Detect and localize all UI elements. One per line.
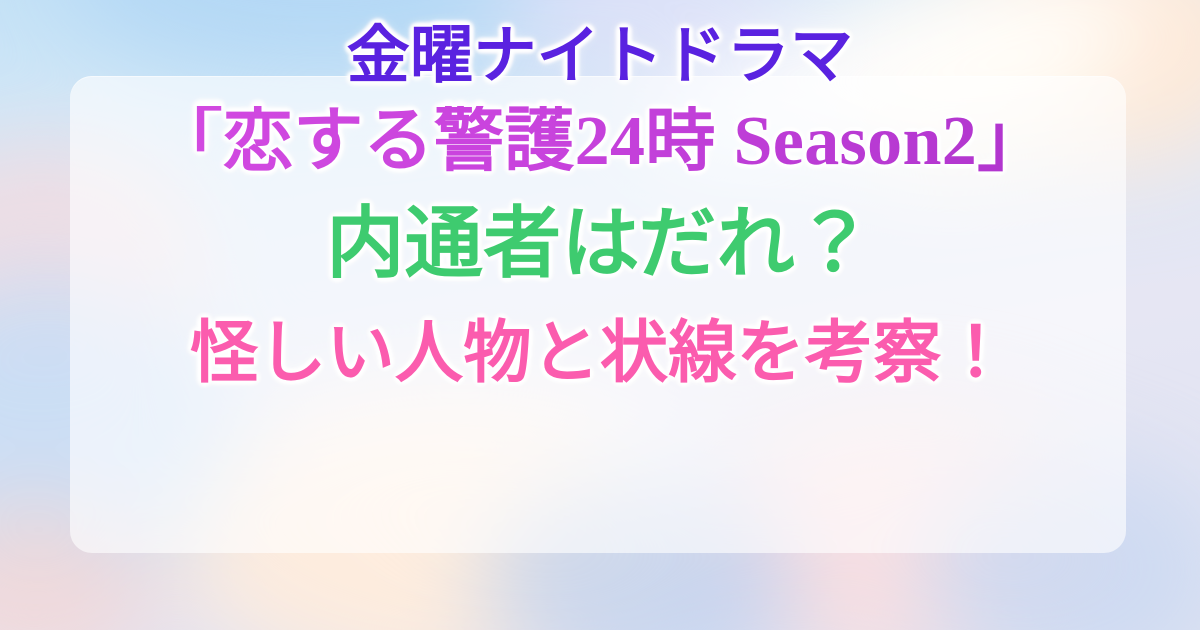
headline-line-title: 「恋する警護24時 Season2」 xyxy=(0,106,1200,177)
headline-line-title-wrap: 「恋する警護24時 Season2」 「恋する警護24時 Season2」 xyxy=(0,106,1200,177)
thumbnail-canvas: 金曜ナイトドラマ 「恋する警護24時 Season2」 「恋する警護24時 Se… xyxy=(0,0,1200,630)
headline-line-program-slot: 金曜ナイトドラマ xyxy=(0,24,1200,88)
headline-line-subtitle: 怪しい人物と状線を考察！ xyxy=(0,319,1200,388)
headline-line-question: 内通者はだれ？ xyxy=(0,204,1200,284)
headline-block: 金曜ナイトドラマ 「恋する警護24時 Season2」 「恋する警護24時 Se… xyxy=(0,0,1200,630)
